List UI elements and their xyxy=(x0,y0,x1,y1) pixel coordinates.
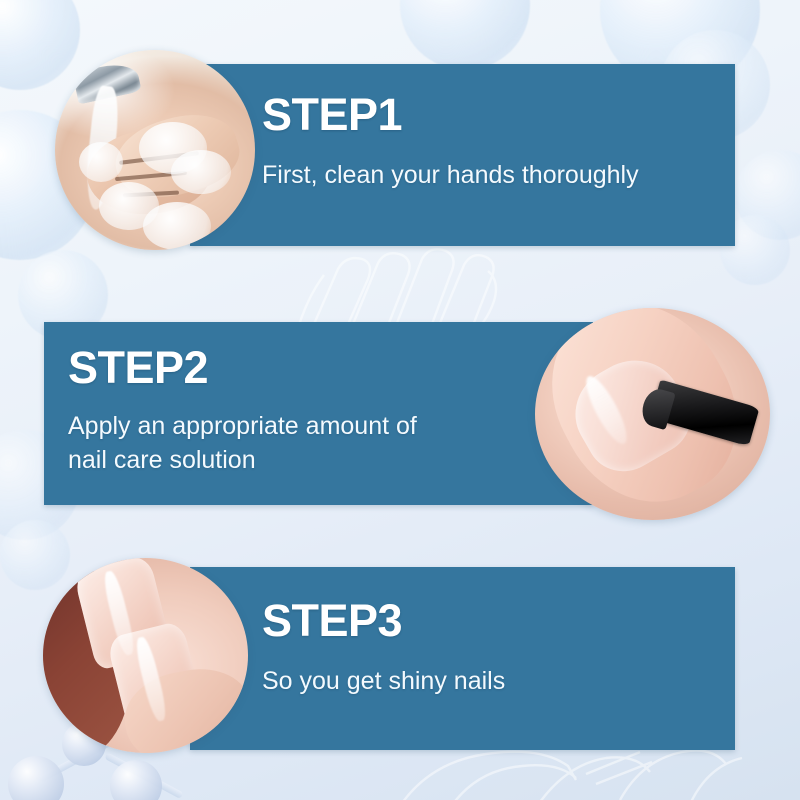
infographic-canvas: STEP1 First, clean your hands thoroughly xyxy=(0,0,800,800)
step-3-description: So you get shiny nails xyxy=(262,665,722,699)
shiny-nails-photo xyxy=(43,558,248,753)
step-3-block: STEP3 So you get shiny nails xyxy=(0,0,800,800)
step-3-text-group: STEP3 So you get shiny nails xyxy=(262,598,722,699)
step-3-title: STEP3 xyxy=(262,598,722,643)
